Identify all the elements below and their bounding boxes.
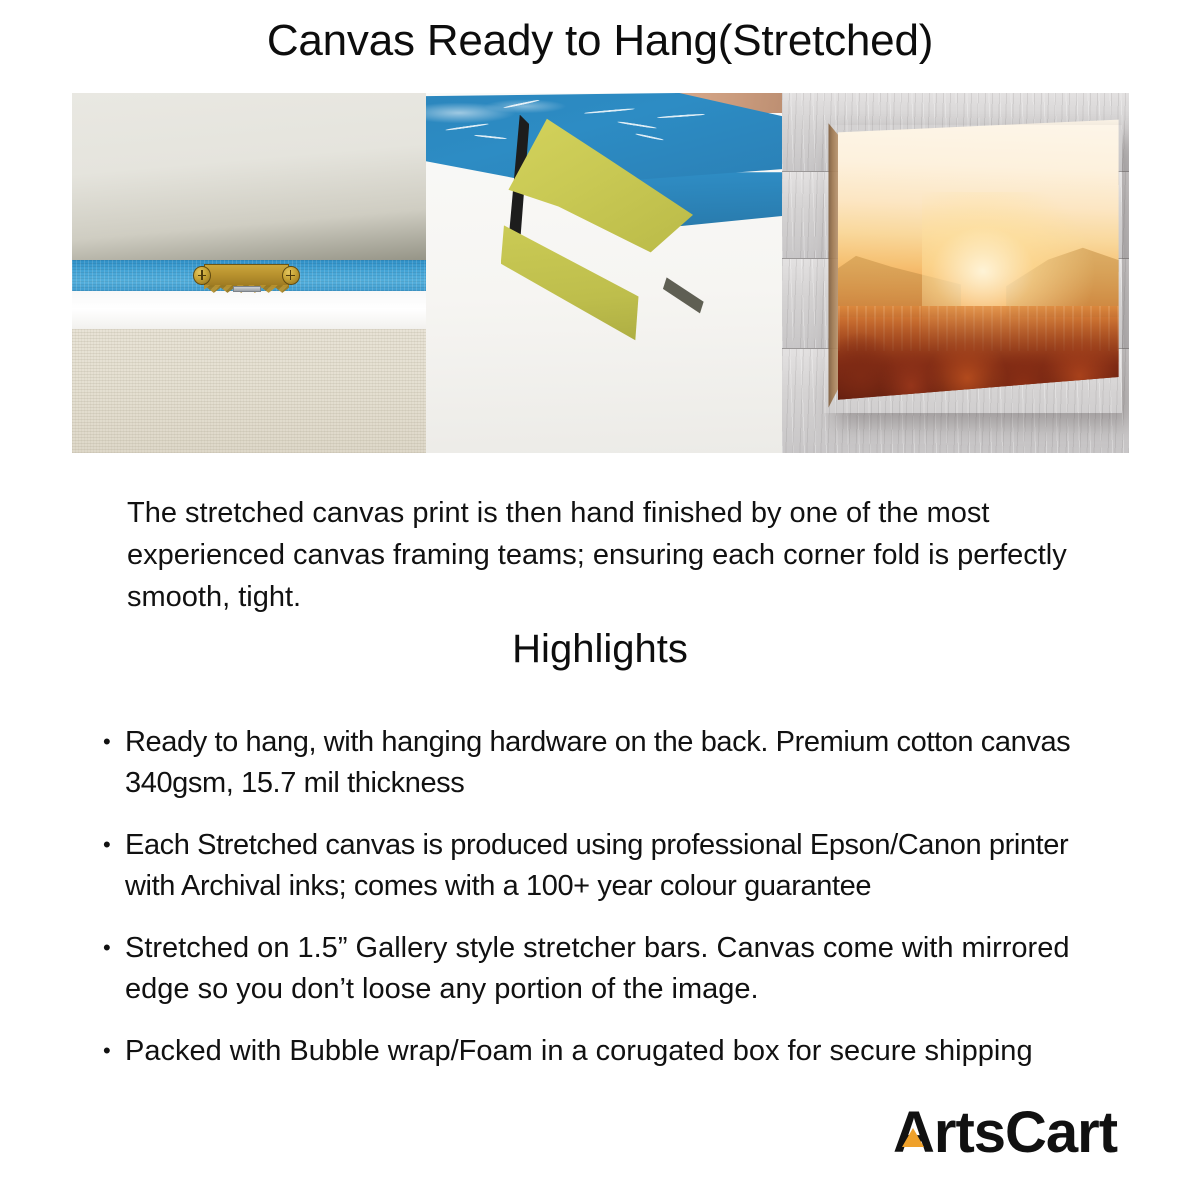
bullet-icon: •	[103, 928, 125, 1010]
list-item-text: Ready to hang, with hanging hardware on …	[125, 722, 1113, 804]
brand-logo[interactable]: A rtsCart	[893, 1102, 1117, 1164]
page-title: Canvas Ready to Hang(Stretched)	[0, 16, 1200, 66]
list-item: • Packed with Bubble wrap/Foam in a coru…	[103, 1031, 1113, 1072]
triangle-icon	[902, 1128, 924, 1147]
list-item: • Stretched on 1.5” Gallery style stretc…	[103, 928, 1113, 1010]
sawtooth-hanger-icon	[194, 264, 298, 286]
wall-background	[72, 93, 426, 266]
intro-paragraph: The stretched canvas print is then hand …	[127, 492, 1077, 618]
list-item-text: Packed with Bubble wrap/Foam in a coruga…	[125, 1031, 1113, 1072]
canvas-white-band	[72, 289, 426, 329]
sunset-landscape-artwork	[838, 118, 1119, 402]
gallery-image-canvas-on-wall[interactable]	[782, 93, 1129, 453]
list-item: • Ready to hang, with hanging hardware o…	[103, 722, 1113, 804]
bullet-icon: •	[103, 825, 125, 907]
bullet-icon: •	[103, 722, 125, 804]
brand-logo-letter-a: A	[893, 1102, 934, 1164]
product-image-gallery	[72, 93, 1129, 453]
brand-logo-rest: rtsCart	[934, 1102, 1117, 1164]
list-item-text: Each Stretched canvas is produced using …	[125, 825, 1113, 907]
product-info-page: Canvas Ready to Hang(Stretched)	[0, 0, 1200, 1200]
list-item: • Each Stretched canvas is produced usin…	[103, 825, 1113, 907]
screw-icon	[282, 266, 300, 285]
bullet-icon: •	[103, 1031, 125, 1072]
screw-icon	[193, 266, 211, 285]
gallery-image-corner-fold-detail[interactable]	[426, 93, 782, 453]
highlights-heading: Highlights	[0, 627, 1200, 672]
highlights-list: • Ready to hang, with hanging hardware o…	[103, 722, 1113, 1093]
cotton-canvas-surface	[72, 325, 426, 453]
hanger-clip	[233, 286, 261, 292]
list-item-text: Stretched on 1.5” Gallery style stretche…	[125, 928, 1113, 1010]
gallery-image-canvas-back-hanger[interactable]	[72, 93, 426, 453]
